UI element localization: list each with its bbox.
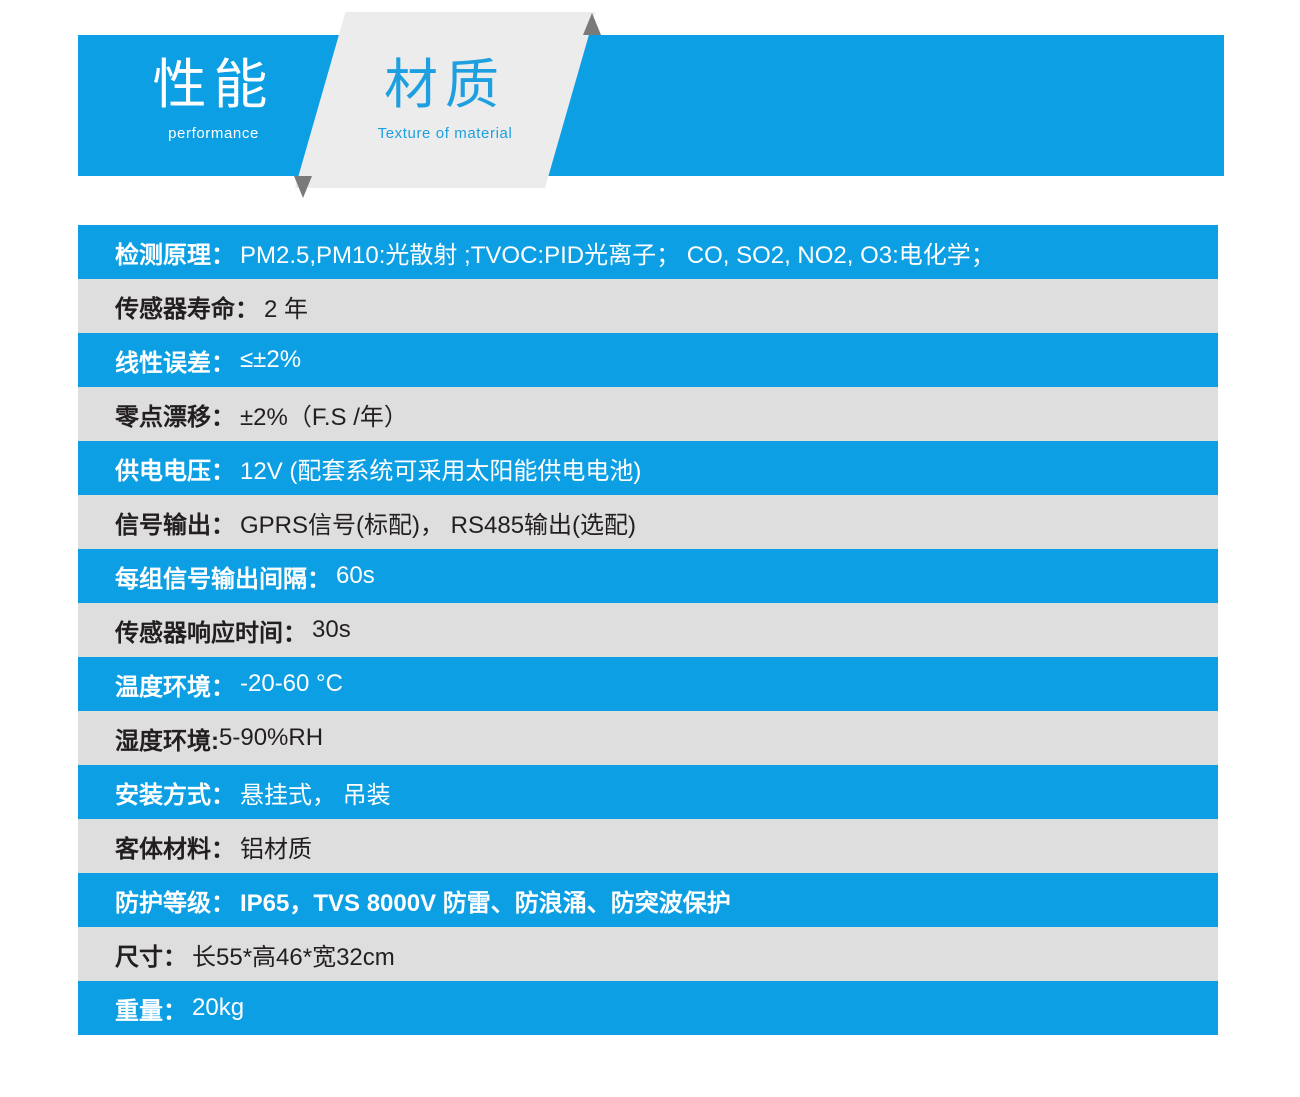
banner-material-title: 材质: [355, 58, 535, 112]
spec-label: 客体材料：: [115, 829, 235, 864]
spec-value: PM2.5,PM10:光散射 ;TVOC:PID光离子； CO, SO2, NO…: [235, 235, 995, 270]
spec-row: 湿度环境:5-90%RH: [78, 711, 1218, 765]
spec-value: IP65，TVS 8000V 防雷、防浪涌、防突波保护: [235, 883, 731, 918]
spec-label: 线性误差：: [115, 343, 235, 378]
spec-value: ≤±2%: [235, 346, 301, 374]
spec-row: 温度环境：-20-60 °C: [78, 657, 1218, 711]
spec-row: 防护等级：IP65，TVS 8000V 防雷、防浪涌、防突波保护: [78, 873, 1218, 927]
spec-row: 重量：20kg: [78, 981, 1218, 1035]
spec-label: 传感器寿命：: [115, 289, 259, 324]
spec-row: 信号输出：GPRS信号(标配)， RS485输出(选配): [78, 495, 1218, 549]
spec-label: 温度环境：: [115, 667, 235, 702]
fold-corner-top-icon: [583, 13, 601, 35]
spec-value: ±2%（F.S /年）: [235, 397, 408, 432]
spec-label: 检测原理：: [115, 235, 235, 270]
banner-section-performance: 性能 performance: [126, 58, 301, 141]
spec-value: 12V (配套系统可采用太阳能供电电池): [235, 451, 641, 486]
banner-section-material: 材质 Texture of material: [355, 58, 535, 141]
banner-material-subtitle: Texture of material: [355, 126, 535, 141]
spec-row: 客体材料：铝材质: [78, 819, 1218, 873]
spec-row: 尺寸：长55*高46*宽32cm: [78, 927, 1218, 981]
spec-label: 重量：: [115, 991, 187, 1026]
spec-value: GPRS信号(标配)， RS485输出(选配): [235, 505, 636, 540]
spec-label: 零点漂移：: [115, 397, 235, 432]
spec-row: 传感器响应时间：30s: [78, 603, 1218, 657]
spec-value: 铝材质: [235, 829, 312, 864]
spec-label: 湿度环境:: [115, 721, 219, 756]
spec-value: 长55*高46*宽32cm: [187, 937, 395, 972]
spec-label: 供电电压：: [115, 451, 235, 486]
spec-value: -20-60 °C: [235, 670, 343, 698]
banner-performance-subtitle: performance: [126, 126, 301, 141]
spec-value: 60s: [331, 562, 375, 590]
spec-value: 悬挂式， 吊装: [235, 775, 391, 810]
spec-row: 传感器寿命：2 年: [78, 279, 1218, 333]
spec-label: 安装方式：: [115, 775, 235, 810]
spec-value: 5-90%RH: [219, 724, 323, 752]
spec-value: 20kg: [187, 994, 244, 1022]
spec-row: 每组信号输出间隔：60s: [78, 549, 1218, 603]
spec-label: 防护等级：: [115, 883, 235, 918]
spec-value: 30s: [307, 616, 351, 644]
fold-corner-bottom-icon: [294, 176, 312, 198]
spec-row: 零点漂移：±2%（F.S /年）: [78, 387, 1218, 441]
banner-performance-title: 性能: [126, 58, 301, 112]
spec-label: 传感器响应时间：: [115, 613, 307, 648]
page-header-banner: 性能 performance 材质 Texture of material: [0, 0, 1300, 210]
spec-label: 每组信号输出间隔：: [115, 559, 331, 594]
spec-row: 检测原理：PM2.5,PM10:光散射 ;TVOC:PID光离子； CO, SO…: [78, 225, 1218, 279]
spec-label: 信号输出：: [115, 505, 235, 540]
spec-label: 尺寸：: [115, 937, 187, 972]
spec-row: 线性误差：≤±2%: [78, 333, 1218, 387]
spec-value: 2 年: [259, 289, 308, 324]
spec-row: 安装方式：悬挂式， 吊装: [78, 765, 1218, 819]
specification-table: 检测原理：PM2.5,PM10:光散射 ;TVOC:PID光离子； CO, SO…: [78, 225, 1218, 1035]
spec-row: 供电电压：12V (配套系统可采用太阳能供电电池): [78, 441, 1218, 495]
